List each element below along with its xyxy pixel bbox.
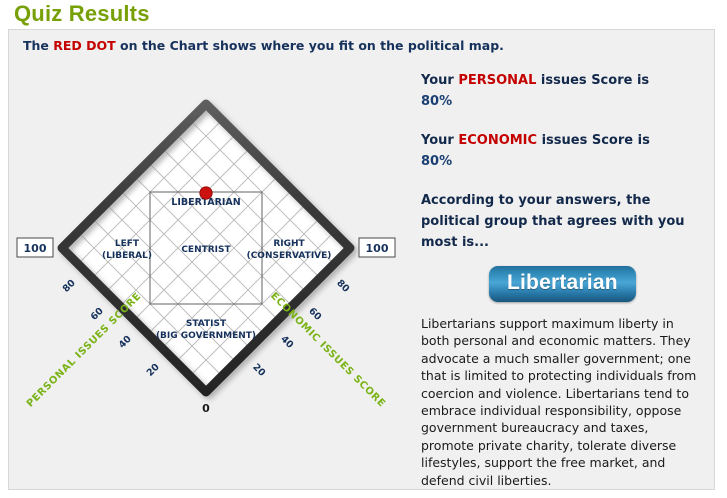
economic-tick-20: 20 [250, 362, 267, 379]
results-panel: The RED DOT on the Chart shows where you… [8, 29, 715, 490]
personal-score-line: Your PERSONAL issues Score is 80% [421, 70, 713, 112]
economic-score-line: Your ECONOMIC issues Score is 80% [421, 130, 713, 172]
economic-score-value: 80% [421, 151, 713, 172]
personal-score-label: PERSONAL [458, 73, 536, 88]
label-right-line1: RIGHT [273, 239, 305, 249]
personal-score-suffix: issues Score is [536, 73, 649, 88]
axis-end-right: 100 [359, 238, 395, 257]
label-statist-line2: (BIG GOVERNMENT) [156, 331, 256, 341]
label-centrist: CENTRIST [181, 245, 231, 255]
personal-axis-title: PERSONAL ISSUES SCORE [25, 291, 144, 410]
economic-axis-title: ECONOMIC ISSUES SCORE [268, 291, 387, 410]
axis-origin-label: 0 [202, 402, 210, 415]
personal-tick-40: 40 [117, 333, 134, 350]
economic-tick-80: 80 [334, 278, 351, 295]
page-title: Quiz Results [14, 1, 150, 27]
political-map-chart: LIBERTARIAN LEFT (LIBERAL) CENTRIST RIGH… [9, 60, 409, 415]
personal-tick-20: 20 [145, 361, 162, 378]
personal-score-value: 80% [421, 91, 713, 112]
intro-before: The [23, 38, 53, 53]
verdict-badge-wrap: Libertarian [421, 266, 713, 302]
economic-tick-60: 60 [306, 306, 323, 323]
axis-end-right-value: 100 [366, 242, 389, 255]
political-group-badge: Libertarian [489, 266, 636, 302]
verdict-text: According to your answers, the political… [421, 190, 689, 253]
economic-score-prefix: Your [421, 133, 458, 148]
chart-svg: LIBERTARIAN LEFT (LIBERAL) CENTRIST RIGH… [9, 60, 409, 415]
personal-tick-80: 80 [61, 277, 78, 294]
personal-score-prefix: Your [421, 73, 458, 88]
economic-tick-40: 40 [278, 334, 295, 351]
label-statist-line1: STATIST [186, 319, 227, 329]
intro-text: The RED DOT on the Chart shows where you… [23, 38, 504, 53]
label-right-line2: (CONSERVATIVE) [247, 251, 332, 261]
label-left-line1: LEFT [115, 239, 140, 249]
personal-tick-60: 60 [89, 305, 106, 322]
results-summary: Your PERSONAL issues Score is 80% Your E… [421, 70, 713, 489]
axis-end-left: 100 [17, 238, 53, 257]
axis-end-left-value: 100 [24, 242, 47, 255]
economic-score-suffix: issues Score is [537, 133, 650, 148]
intro-red-dot-highlight: RED DOT [53, 38, 115, 53]
economic-score-label: ECONOMIC [458, 133, 537, 148]
label-left-line2: (LIBERAL) [102, 251, 152, 261]
quiz-results-page: Quiz Results The RED DOT on the Chart sh… [0, 0, 727, 498]
group-description: Libertarians support maximum liberty in … [421, 315, 702, 489]
intro-after: on the Chart shows where you fit on the … [116, 38, 504, 53]
user-position-dot [200, 187, 212, 199]
